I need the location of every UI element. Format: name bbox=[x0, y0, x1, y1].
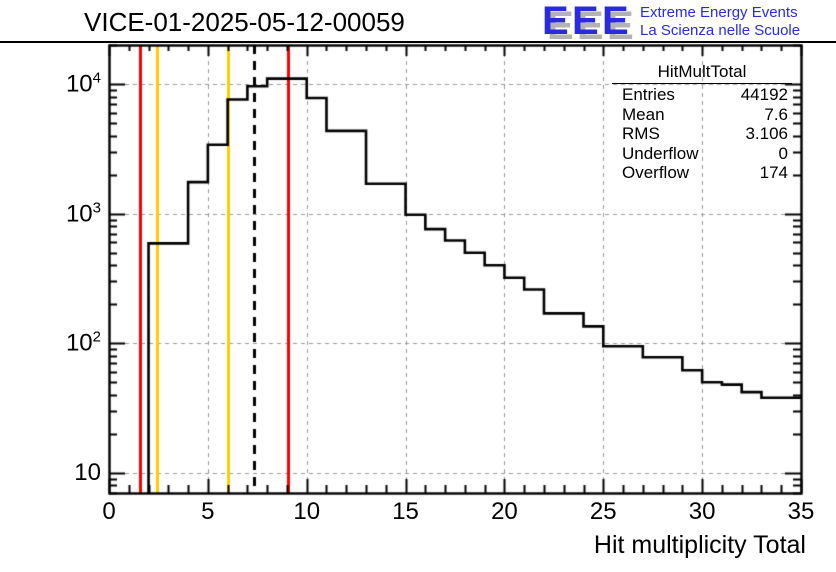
y-tick-label: 103 bbox=[66, 199, 101, 228]
stats-rows: Entries44192Mean7.6RMS3.106Underflow0Ove… bbox=[612, 85, 792, 183]
eee-logo-letter: E bbox=[572, 2, 598, 40]
eee-logo-line2: La Scienza nelle Scuole bbox=[640, 22, 800, 39]
stats-row: Overflow174 bbox=[612, 163, 792, 183]
x-tick-label: 10 bbox=[293, 498, 320, 526]
stats-row: Entries44192 bbox=[612, 85, 792, 105]
header-divider bbox=[0, 41, 836, 43]
eee-logo-line1: Extreme Energy Events bbox=[640, 4, 798, 21]
x-tick-label: 5 bbox=[201, 498, 214, 526]
stats-row-value: 3.106 bbox=[745, 124, 788, 144]
x-tick-label: 0 bbox=[102, 498, 115, 526]
stats-row: Mean7.6 bbox=[612, 105, 792, 125]
page-title: VICE-01-2025-05-12-00059 bbox=[84, 7, 405, 38]
stats-row-value: 44192 bbox=[741, 85, 788, 105]
eee-logo: EEEEEE Extreme Energy Events La Scienza … bbox=[542, 2, 834, 42]
stats-row-key: Mean bbox=[622, 105, 665, 125]
x-tick-label: 30 bbox=[689, 498, 716, 526]
x-tick-label: 25 bbox=[590, 498, 617, 526]
stats-row-value: 0 bbox=[779, 144, 788, 164]
y-tick-label: 104 bbox=[66, 70, 101, 99]
stats-row-value: 7.6 bbox=[764, 105, 788, 125]
stats-row-value: 174 bbox=[760, 163, 788, 183]
y-tick-label: 102 bbox=[66, 329, 101, 358]
stats-row-key: RMS bbox=[622, 124, 660, 144]
stats-row: Underflow0 bbox=[612, 144, 792, 164]
stats-row: RMS3.106 bbox=[612, 124, 792, 144]
stats-row-key: Overflow bbox=[622, 163, 689, 183]
y-tick-label: 10 bbox=[74, 459, 101, 487]
eee-logo-letter: E bbox=[542, 2, 568, 40]
y-axis-labels: 10102103104 bbox=[0, 0, 101, 572]
x-tick-label: 15 bbox=[392, 498, 419, 526]
eee-logo-letters: EEEEEE bbox=[542, 2, 634, 40]
stats-box: HitMultTotal Entries44192Mean7.6RMS3.106… bbox=[612, 62, 792, 183]
stats-title: HitMultTotal bbox=[612, 62, 792, 84]
x-tick-label: 20 bbox=[491, 498, 518, 526]
eee-logo-letter: E bbox=[602, 2, 628, 40]
stats-row-key: Entries bbox=[622, 85, 675, 105]
stats-row-key: Underflow bbox=[622, 144, 699, 164]
x-axis-title: Hit multiplicity Total bbox=[594, 531, 806, 560]
x-tick-label: 35 bbox=[788, 498, 815, 526]
